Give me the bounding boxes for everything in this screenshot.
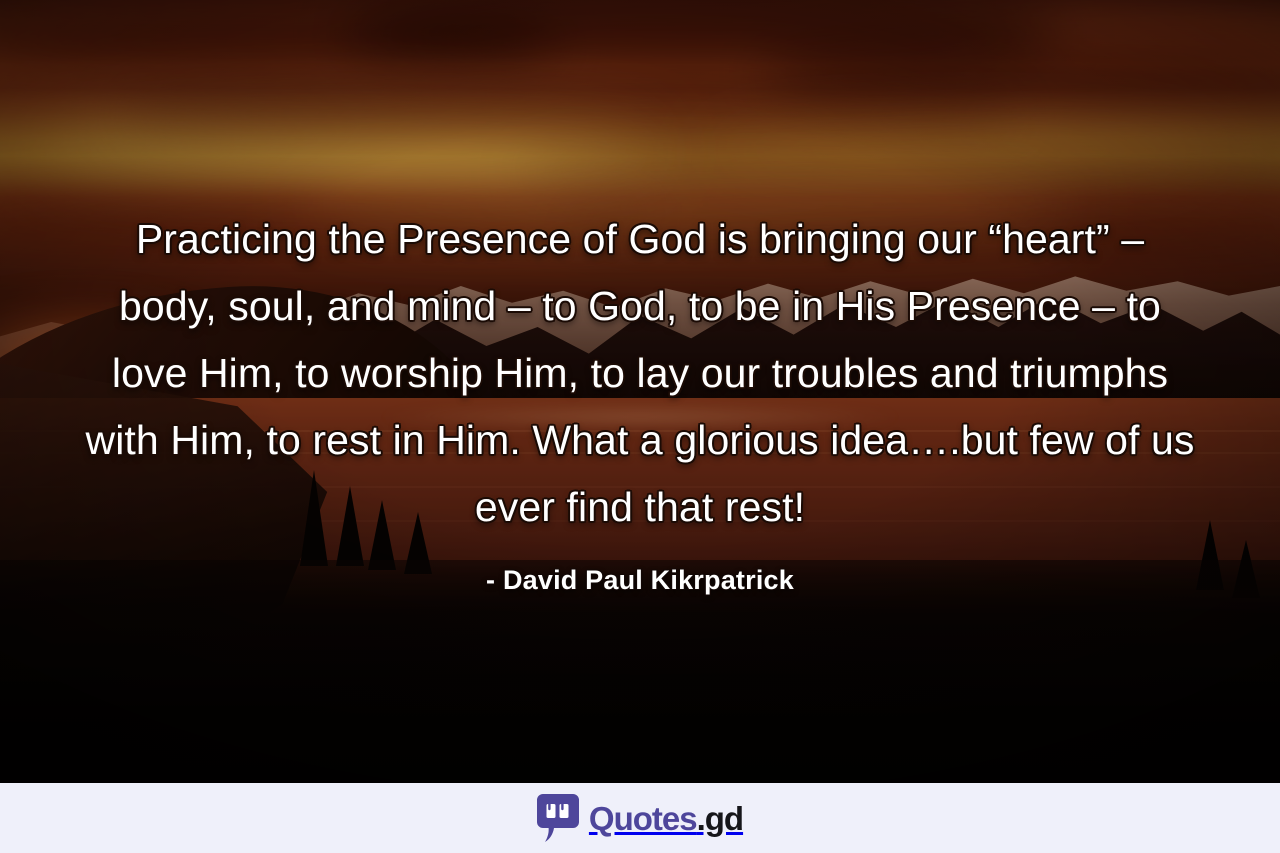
quote-body: Practicing the Presence of God is bringi… (85, 206, 1195, 541)
brand-tld: .gd (697, 800, 743, 837)
quotes-gd-logo[interactable]: Quotes.gd (537, 794, 743, 842)
site-footer: Quotes.gd (0, 783, 1280, 853)
quote-card: Practicing the Presence of God is bringi… (0, 0, 1280, 853)
quote-author: - David Paul Kikrpatrick (486, 565, 794, 596)
quote-text-layer: Practicing the Presence of God is bringi… (0, 0, 1280, 783)
brand-name: Quotes (589, 800, 697, 837)
quote-bubble-icon (537, 794, 579, 842)
brand-wordmark: Quotes.gd (589, 802, 743, 835)
